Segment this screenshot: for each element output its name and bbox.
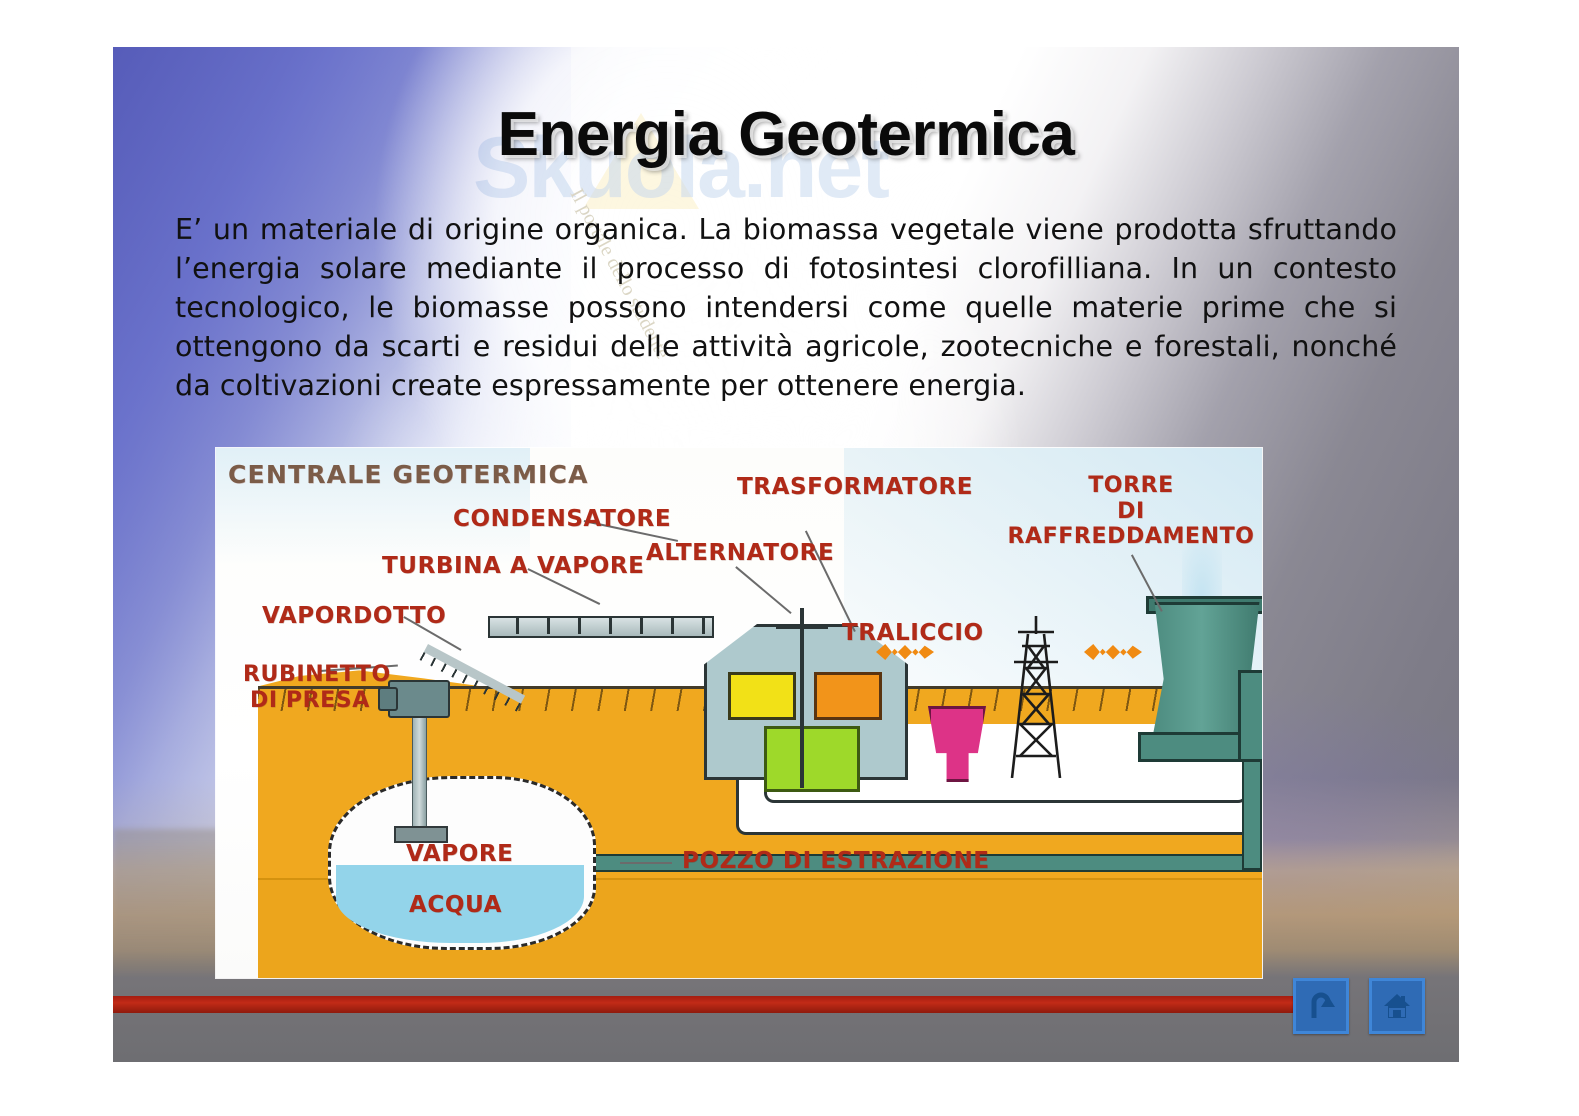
- body-paragraph: E’ un materiale di origine organica. La …: [175, 210, 1397, 405]
- label-traliccio: TRALICCIO: [842, 620, 984, 646]
- steam-duct-supports: [488, 616, 710, 634]
- leader-pozzo: [620, 862, 672, 864]
- label-acqua: ACQUA: [409, 892, 502, 918]
- alternator-unit: [814, 672, 882, 720]
- label-vapordotto: VAPORDOTTO: [262, 603, 446, 629]
- home-icon: [1382, 991, 1412, 1021]
- label-rubinetto-line1: RUBINETTO: [243, 662, 391, 687]
- cooling-tower-annex: [1238, 670, 1262, 762]
- condenser-unit: [764, 726, 860, 792]
- house-column: [800, 608, 804, 788]
- label-trasformatore: TRASFORMATORE: [737, 474, 973, 500]
- presentation-slide: Skuola.net Il portale dello studente Ene…: [113, 47, 1459, 1062]
- home-button[interactable]: [1369, 978, 1425, 1034]
- geothermal-plant-diagram: CENTRALE GEOTERMICA CONDENSATORE TURBINA…: [216, 448, 1262, 978]
- slide-navigation: [1293, 978, 1425, 1034]
- back-button[interactable]: [1293, 978, 1349, 1034]
- label-pozzo-di-estrazione: POZZO DI ESTRAZIONE: [682, 848, 990, 874]
- label-rubinetto-line2: DI PRESA: [250, 688, 370, 713]
- return-arrow-icon: [1306, 991, 1336, 1021]
- label-torre-line1: TORRE: [1006, 474, 1256, 499]
- label-torre-line2: DI RAFFREDDAMENTO: [1006, 500, 1256, 549]
- valve-knob: [378, 687, 398, 711]
- label-vapore: VAPORE: [406, 841, 513, 867]
- spark-left-icon: [876, 644, 934, 660]
- screenshot-canvas: Skuola.net Il portale dello studente Ene…: [0, 0, 1579, 1116]
- diagram-heading: CENTRALE GEOTERMICA: [228, 460, 589, 489]
- riser-pipe: [1242, 754, 1262, 870]
- page-title: Energia Geotermica: [113, 99, 1459, 170]
- label-condensatore: CONDENSATORE: [453, 506, 671, 532]
- transmission-pylon-icon: [1004, 616, 1068, 778]
- cooling-tower-vapor: [1182, 544, 1222, 600]
- accent-bar: [113, 996, 1327, 1013]
- turbine-unit: [728, 672, 796, 720]
- house-beam: [776, 626, 828, 629]
- well-pipe: [412, 710, 427, 832]
- spark-right-icon: [1084, 644, 1142, 660]
- label-alternatore: ALTERNATORE: [646, 540, 834, 566]
- label-turbina-a-vapore: TURBINA A VAPORE: [382, 553, 645, 579]
